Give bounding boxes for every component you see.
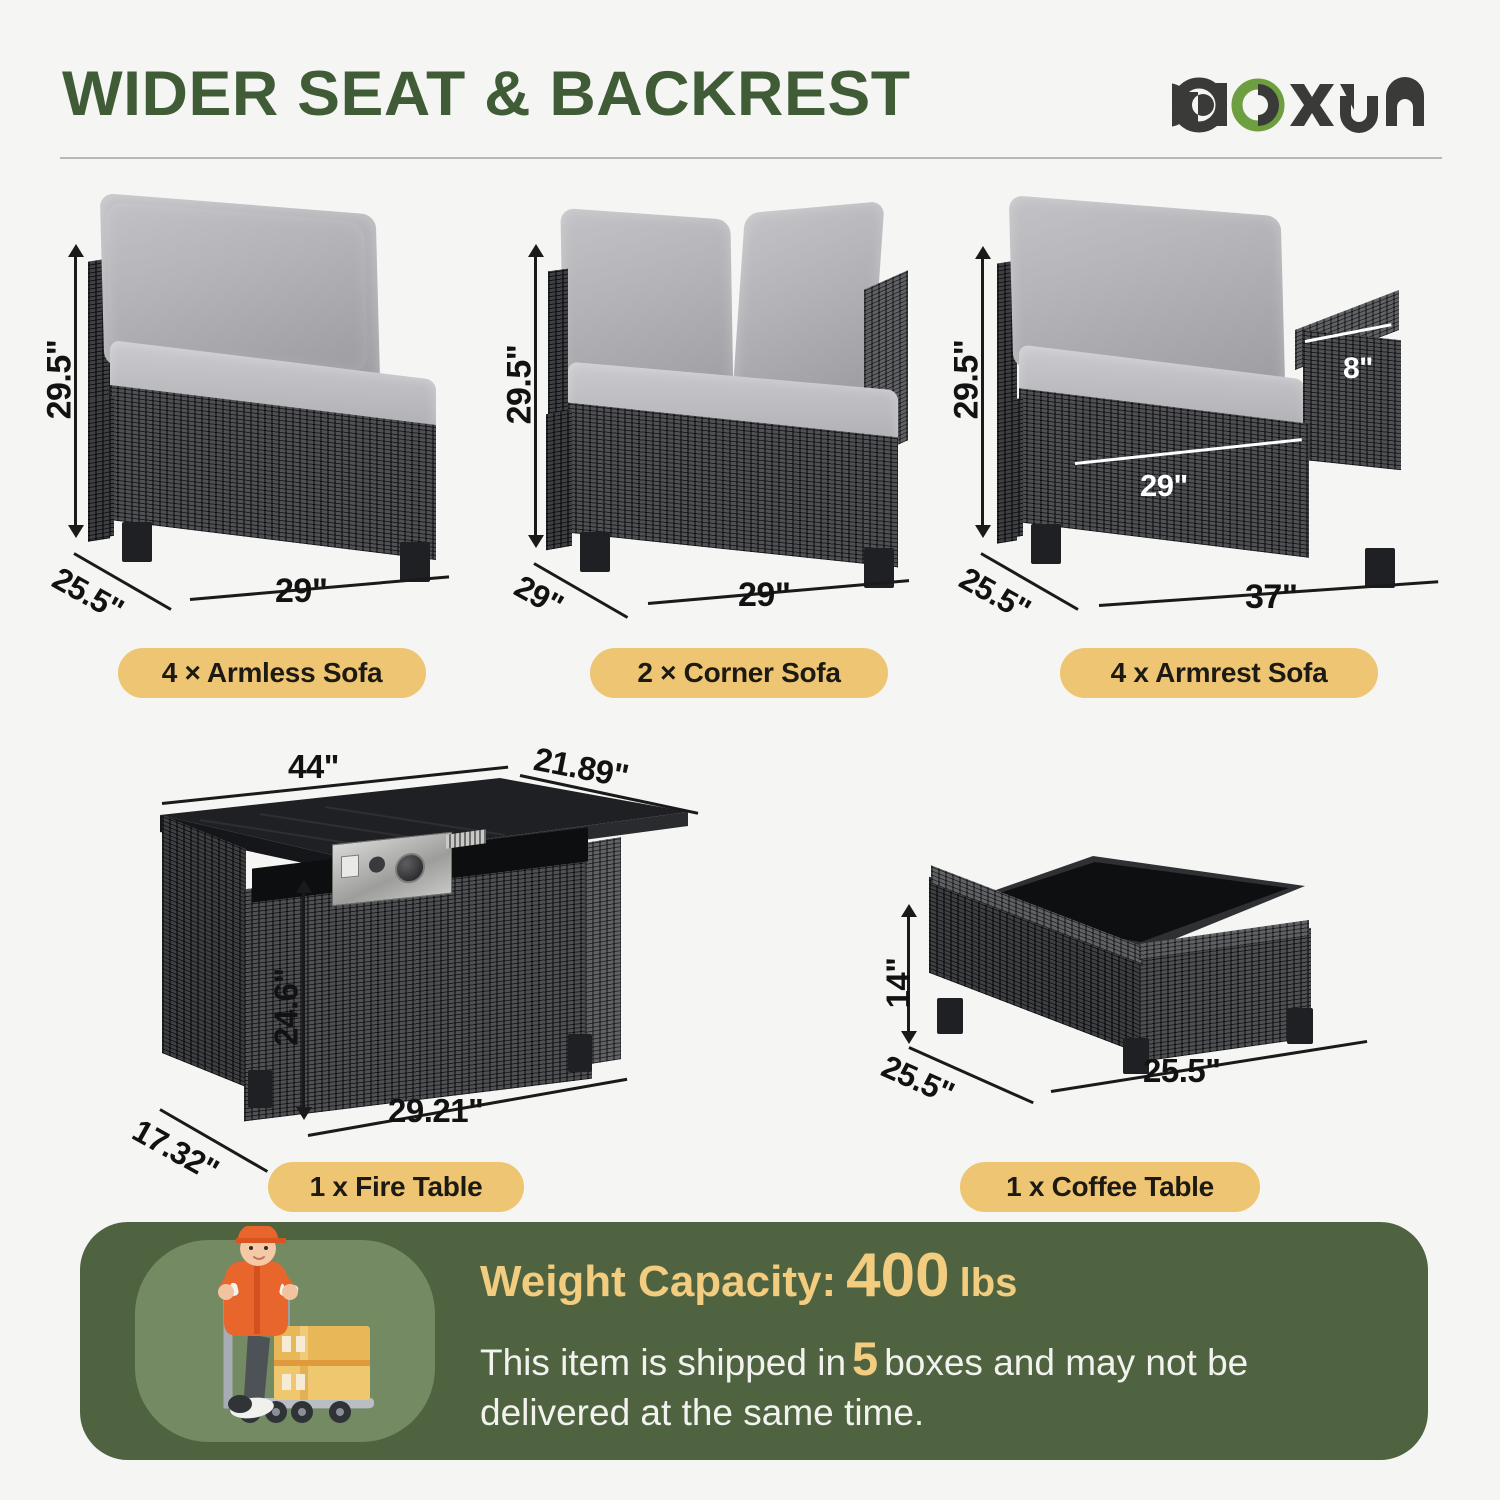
badge-coffee-table: 1 x Coffee Table [960, 1162, 1260, 1212]
shipping-note: This item is shipped in5boxes and may no… [480, 1328, 1400, 1437]
dim-coffee-depth: 25.5" [876, 1048, 960, 1112]
dim-armrest-arm-width: 8" [1343, 352, 1373, 386]
ship-text-before: This item is shipped in [480, 1342, 846, 1383]
dim-armless-depth: 25.5" [46, 560, 129, 629]
product-corner-sofa: 29.5" 29" 29" [520, 190, 960, 610]
dim-corner-width: 29" [738, 576, 790, 615]
badge-fire-table: 1 x Fire Table [268, 1162, 524, 1212]
capacity-unit: lbs [960, 1261, 1018, 1305]
page-title: WIDER SEAT & BACKREST [62, 58, 910, 130]
product-coffee-table: 14" 25.5" 25.5" [875, 840, 1375, 1140]
dim-armless-width: 29" [275, 572, 327, 611]
product-armless-sofa: 29.5" 25.5" 29" [60, 190, 480, 610]
dim-fire-height: 24.6" [268, 968, 306, 1045]
product-fire-table: 44" 21.89" 24.6" 17.32" 29.21" [140, 740, 720, 1140]
burner-knob [395, 852, 425, 885]
ship-box-count: 5 [846, 1332, 884, 1385]
header-divider [60, 157, 1442, 159]
badge-armrest-sofa: 4 x Armrest Sofa [1060, 648, 1378, 698]
weight-capacity-line: Weight Capacity: 400 lbs [480, 1242, 1400, 1310]
badge-corner-sofa: 2 × Corner Sofa [590, 648, 888, 698]
brand-logo [1172, 62, 1442, 140]
dim-fire-base-width: 29.21" [388, 1092, 483, 1130]
capacity-value: 400 [846, 1242, 949, 1310]
dim-armrest-height: 29.5" [947, 340, 986, 420]
page-header: WIDER SEAT & BACKREST [0, 0, 1500, 175]
dim-corner-height: 29.5" [500, 345, 539, 425]
dim-fire-top-width: 44" [288, 748, 339, 786]
dim-fire-base-depth: 17.32" [126, 1112, 225, 1189]
badge-armless-sofa: 4 × Armless Sofa [118, 648, 426, 698]
dim-coffee-width: 25.5" [1143, 1052, 1220, 1090]
dim-armrest-depth: 25.5" [953, 560, 1036, 629]
burner-control-panel [332, 832, 452, 907]
dim-armrest-seat-width: 29" [1140, 468, 1188, 504]
delivery-man-icon [190, 1226, 400, 1446]
shipping-banner: Weight Capacity: 400 lbs This item is sh… [80, 1222, 1428, 1460]
product-armrest-sofa: 29.5" 25.5" 37" 29" 8" [965, 190, 1445, 610]
dim-armless-height: 29.5" [40, 340, 79, 420]
capacity-label: Weight Capacity: [480, 1258, 836, 1306]
dim-armrest-width: 37" [1245, 578, 1297, 617]
dim-coffee-height: 14" [879, 958, 917, 1009]
